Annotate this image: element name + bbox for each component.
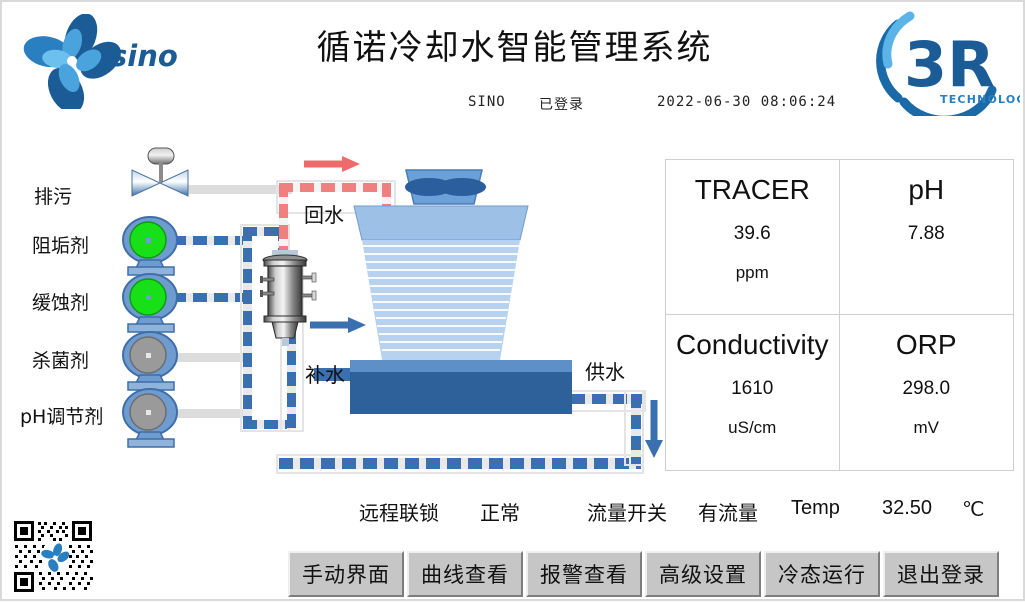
- cold-start-run-button[interactable]: 冷态运行: [764, 551, 880, 597]
- measurement-unit: mV: [914, 418, 940, 438]
- label-supply-water: 供水: [585, 356, 625, 385]
- sensor-analyzer-chamber[interactable]: [260, 250, 338, 346]
- blowdown-valve[interactable]: [122, 144, 198, 206]
- dosing-pump-corrosion-inhibitor[interactable]: [120, 273, 184, 333]
- hmi-screen: sino 循诺冷却水智能管理系统 SINO 已登录 2022-06-30 08:…: [0, 0, 1025, 601]
- measurement-orp: ORP 298.0 mV: [840, 315, 1014, 470]
- measurement-value: 39.6: [734, 223, 771, 245]
- fan-blade-right: [438, 178, 486, 196]
- advanced-settings-button[interactable]: 高级设置: [645, 551, 761, 597]
- pipe-main-loop-bottom: [279, 458, 641, 469]
- device-label-blowdown: 排污: [34, 182, 72, 209]
- tower-basin: [350, 372, 572, 414]
- measurement-value: 298.0: [902, 378, 950, 400]
- measurement-unit: ppm: [736, 263, 769, 283]
- temperature-value: 32.50: [882, 497, 932, 520]
- remote-interlock-value: 正常: [480, 497, 520, 526]
- label-makeup-water: 补水: [305, 359, 345, 388]
- measurement-conductivity: Conductivity 1610 uS/cm: [666, 315, 840, 470]
- device-label-ph-adjuster: pH调节剂: [20, 402, 103, 429]
- valve-body-right: [160, 170, 188, 196]
- pipe-sensor-loop-left: [243, 227, 252, 429]
- datetime: 2022-06-30 08:06:24: [657, 94, 836, 110]
- flow-switch-label: 流量开关: [587, 497, 667, 526]
- valve-body-left: [132, 170, 160, 196]
- remote-interlock-label: 远程联锁: [359, 497, 439, 526]
- 3r-logo-text: 3R: [904, 28, 995, 101]
- dosing-pump-biocide[interactable]: [120, 331, 184, 391]
- temperature-label: Temp: [791, 497, 840, 520]
- measurement-name: TRACER: [695, 174, 810, 206]
- measurement-name: Conductivity: [676, 329, 829, 361]
- logout-button[interactable]: 退出登录: [883, 551, 999, 597]
- valve-stem: [159, 162, 163, 182]
- trend-view-button[interactable]: 曲线查看: [407, 551, 523, 597]
- manual-interface-button[interactable]: 手动界面: [288, 551, 404, 597]
- tower-top-band: [354, 206, 528, 240]
- 3r-logo-subtext: TECHNOLOGY: [940, 93, 1020, 106]
- device-label-antiscalant: 阻垢剂: [32, 231, 89, 258]
- measurement-ph: pH 7.88: [840, 160, 1014, 315]
- measurement-tracer: TRACER 39.6 ppm: [666, 160, 840, 315]
- dosing-pump-antiscalant[interactable]: [120, 216, 184, 276]
- user-name: SINO: [468, 94, 506, 110]
- 3r-technology-logo: 3R TECHNOLOGY: [864, 6, 1020, 116]
- measurement-value: 7.88: [908, 223, 945, 245]
- status-row: 远程联锁 正常 流量开关 有流量 Temp 32.50 ℃: [2, 497, 1025, 529]
- label-return-water: 回水: [304, 199, 344, 228]
- login-state: 已登录: [539, 94, 584, 114]
- button-bar: 手动界面 曲线查看 报警查看 高级设置 冷态运行 退出登录: [288, 551, 1002, 597]
- measurement-value: 1610: [731, 378, 773, 400]
- device-label-biocide: 杀菌剂: [32, 346, 89, 373]
- flow-switch-value: 有流量: [698, 497, 758, 526]
- tower-basin-rim: [350, 360, 572, 372]
- supply-flow-arrow-icon: [643, 398, 665, 460]
- device-label-corrosion-inhibitor: 缓蚀剂: [32, 288, 89, 315]
- qr-code: [10, 517, 98, 597]
- measurement-panel: TRACER 39.6 ppm pH 7.88 Conductivity 161…: [665, 159, 1014, 471]
- alarm-view-button[interactable]: 报警查看: [526, 551, 642, 597]
- measurement-name: pH: [908, 174, 944, 206]
- measurement-name: ORP: [896, 329, 957, 361]
- measurement-unit: uS/cm: [728, 418, 776, 438]
- dosing-pump-ph-adjuster[interactable]: [120, 388, 184, 448]
- temperature-unit: ℃: [962, 497, 984, 522]
- valve-handwheel: [148, 148, 174, 164]
